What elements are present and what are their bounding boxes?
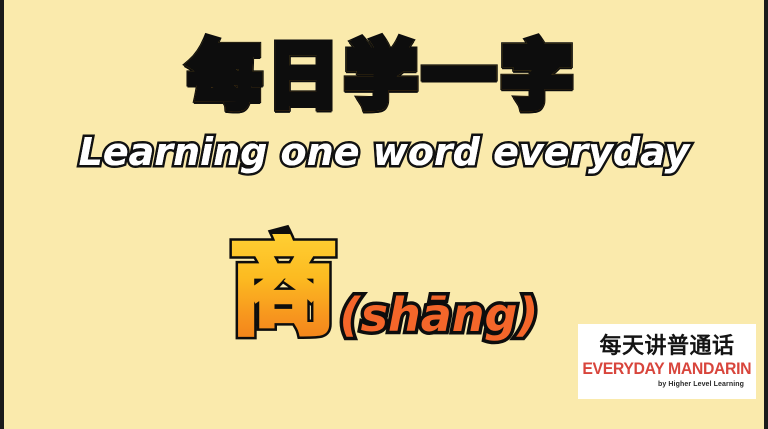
video-frame: 每日学一字 每日学一字 Learning one word everyday L… xyxy=(0,0,768,429)
pinyin-text: (shāng) xyxy=(340,292,539,338)
hanzi-character-wrap: 商 商 xyxy=(230,234,338,342)
letterbox-bar-left xyxy=(0,0,4,429)
logo-english-text: EVERYDAY MANDARIN xyxy=(583,359,752,379)
logo-chinese-text: 每天讲普通话 xyxy=(599,335,734,358)
title-chinese: 每日学一字 xyxy=(0,40,768,112)
hanzi-character: 商 xyxy=(230,234,338,342)
logo-tagline: by Higher Level Learning xyxy=(658,381,744,388)
pinyin-wrap: (shāng) (shāng) xyxy=(340,292,539,338)
brand-logo-card: 每天讲普通话 EVERYDAY MANDARIN by Higher Level… xyxy=(578,324,756,399)
subtitle-english: Learning one word everyday xyxy=(0,132,768,174)
letterbox-bar-right xyxy=(764,0,768,429)
